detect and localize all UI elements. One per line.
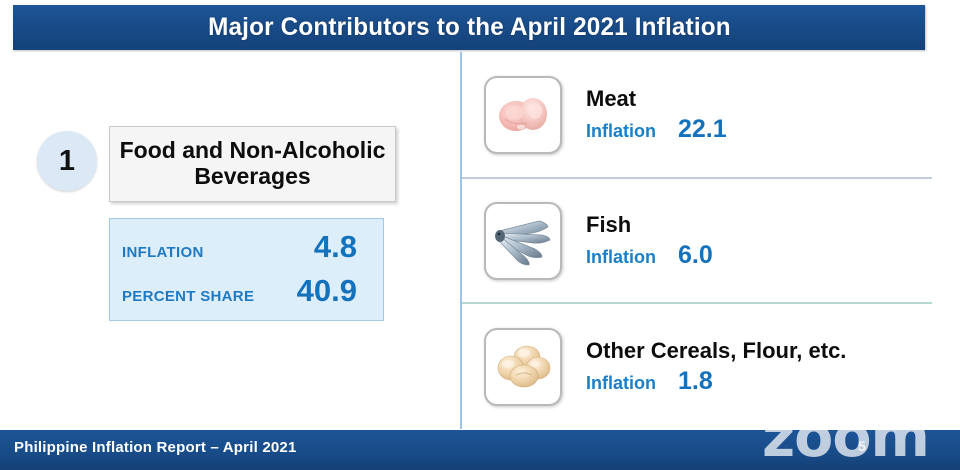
fish-icon [484,202,562,280]
page-number: 5 [858,438,866,454]
item-metric-label: Inflation [586,121,656,142]
stat-row: INFLATION 4.8 [122,231,369,275]
item-metric: Inflation 6.0 [586,243,713,268]
page-title: Major Contributors to the April 2021 Inf… [208,13,731,42]
item-text-block: Meat Inflation 22.1 [586,87,727,142]
category-stats-box: INFLATION 4.8 PERCENT SHARE 40.9 [109,218,384,321]
slide-canvas: Major Contributors to the April 2021 Inf… [0,0,960,470]
item-metric-value: 22.1 [678,117,727,142]
item-metric-label: Inflation [586,373,656,394]
item-metric-value: 6.0 [678,243,713,268]
stat-row: PERCENT SHARE 40.9 [122,275,369,319]
left-panel: 1 Food and Non-Alcoholic Beverages INFLA… [0,55,455,430]
item-metric-label: Inflation [586,247,656,268]
footer-label: Philippine Inflation Report – April 2021 [14,439,296,456]
category-title-label: Food and Non-Alcoholic Beverages [110,138,395,190]
list-item: Meat Inflation 22.1 [462,52,932,177]
list-item: Other Cereals, Flour, etc. Inflation 1.8 [462,304,932,429]
rank-badge: 1 [37,131,97,191]
stat-value-percent-share: 40.9 [297,275,369,306]
item-name: Meat [586,87,727,111]
item-text-block: Other Cereals, Flour, etc. Inflation 1.8 [586,339,846,394]
stat-label-percent-share: PERCENT SHARE [122,288,292,305]
stat-label-inflation: INFLATION [122,244,242,261]
category-title-box: Food and Non-Alcoholic Beverages [109,126,396,202]
meat-icon [484,76,562,154]
item-name: Other Cereals, Flour, etc. [586,339,846,363]
bread-rolls-icon [484,328,562,406]
item-text-block: Fish Inflation 6.0 [586,213,713,268]
rank-badge-label: 1 [59,147,75,176]
slide-title-banner: Major Contributors to the April 2021 Inf… [13,5,925,50]
right-panel: Meat Inflation 22.1 [462,52,932,429]
item-metric: Inflation 1.8 [586,369,846,394]
stat-value-inflation: 4.8 [314,231,369,262]
item-metric: Inflation 22.1 [586,117,727,142]
list-item: Fish Inflation 6.0 [462,179,932,302]
item-name: Fish [586,213,713,237]
item-metric-value: 1.8 [678,369,713,394]
